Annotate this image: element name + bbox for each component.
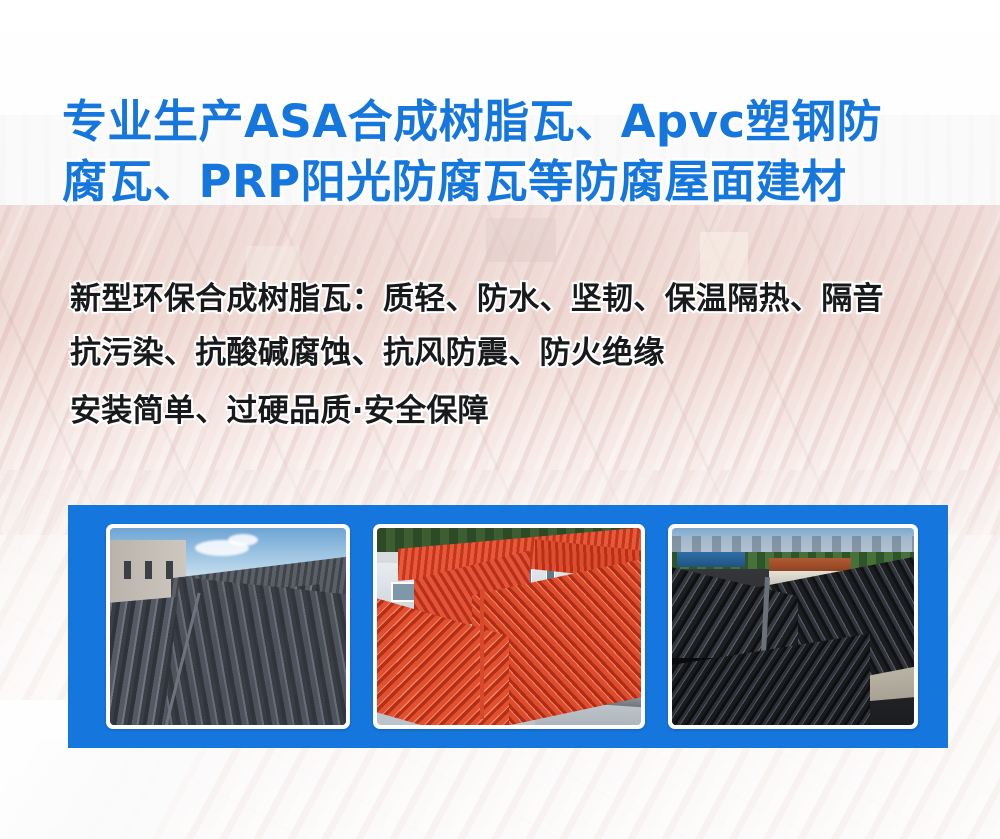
red-roof-photo xyxy=(377,528,641,725)
gallery-photo-3[interactable] xyxy=(668,524,918,729)
banner-headline: 专业生产ASA合成树脂瓦、Apvc塑钢防 腐瓦、PRP阳光防腐瓦等防腐屋面建材 xyxy=(62,92,952,212)
photo-gallery-panel xyxy=(68,505,948,748)
black-roof-photo xyxy=(672,528,914,725)
gallery-photo-2[interactable] xyxy=(373,524,645,729)
subcopy-line-3: 安装简单、过硬品质·安全保障 xyxy=(70,380,950,438)
photo-secondary-roof-slope xyxy=(164,577,346,725)
photo-cloud xyxy=(228,534,258,546)
photo-window xyxy=(124,561,131,579)
grey-roof-photo xyxy=(110,528,346,725)
subcopy-line-2: 抗污染、抗酸碱腐蚀、抗风防震、防火绝缘 xyxy=(70,326,950,380)
subcopy-line-1: 新型环保合成树脂瓦：质轻、防水、坚韧、保温隔热、隔音 xyxy=(70,272,950,326)
banner-subcopy: 新型环保合成树脂瓦：质轻、防水、坚韧、保温隔热、隔音 抗污染、抗酸碱腐蚀、抗风防… xyxy=(70,272,950,438)
photo-window xyxy=(166,561,173,579)
photo-roof-ridge xyxy=(480,589,484,719)
gallery-photo-1[interactable] xyxy=(106,524,350,729)
promo-banner: 专业生产ASA合成树脂瓦、Apvc塑钢防 腐瓦、PRP阳光防腐瓦等防腐屋面建材 … xyxy=(0,0,1000,839)
photo-window xyxy=(145,561,152,579)
photo-village-roof xyxy=(677,552,745,568)
